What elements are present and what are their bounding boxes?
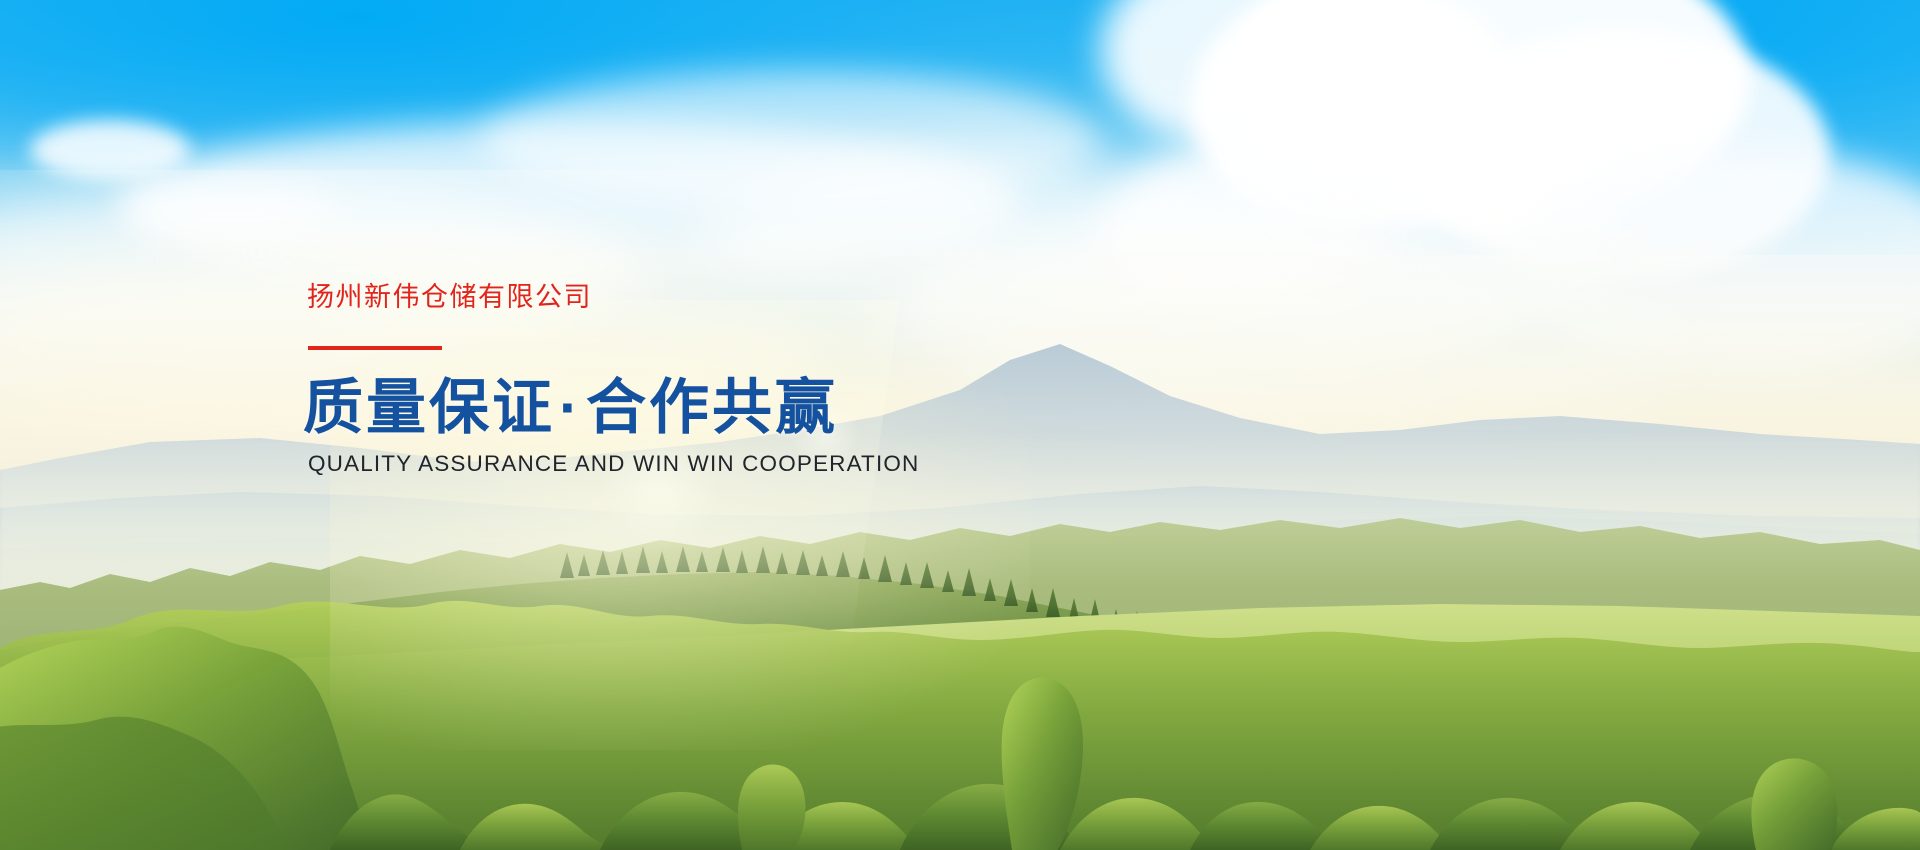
headline-slogan: 质量保证·合作共赢 [303,378,1067,438]
forest-foreground-meadow [0,520,1920,850]
headline-part-right: 合作共赢 [586,374,838,441]
headline-separator-dot: · [555,374,586,441]
red-divider [308,346,442,350]
cloud-small-left [30,120,190,180]
company-name: 扬州新伟仓储有限公司 [307,283,1067,313]
banner-copy-block: 扬州新伟仓储有限公司 质量保证·合作共赢 QUALITY ASSURANCE A… [307,283,1067,476]
headline-part-left: 质量保证 [303,374,555,441]
hero-banner: 扬州新伟仓储有限公司 质量保证·合作共赢 QUALITY ASSURANCE A… [0,0,1920,850]
headline-subtitle-english: QUALITY ASSURANCE AND WIN WIN COOPERATIO… [308,452,1067,477]
